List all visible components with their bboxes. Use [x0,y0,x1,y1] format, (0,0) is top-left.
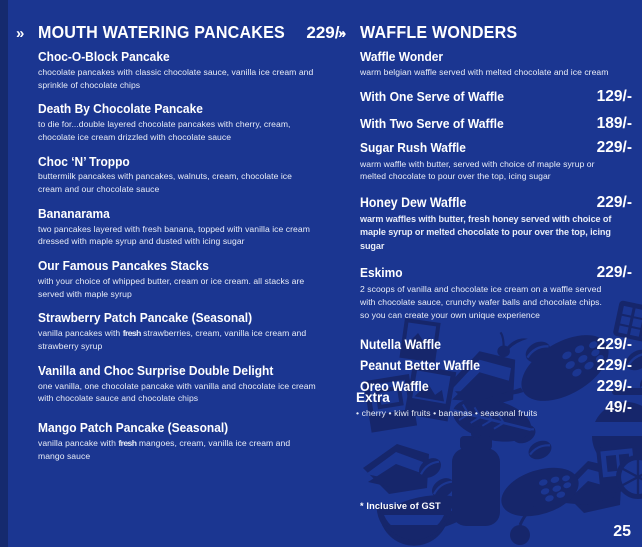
item-name: Honey Dew Waffle [360,195,466,211]
menu-item[interactable]: Sugar Rush Waffle 229/- warm waffle with… [360,139,632,183]
item-description-highlight: fresh [118,438,136,448]
cacao-pod-icon [495,459,585,526]
item-name: Peanut Better Waffle [360,358,480,374]
item-price: 189/- [597,115,632,133]
item-description: with your choice of whipped butter, crea… [38,275,318,300]
extra-label: Extra [356,390,537,406]
item-description: to die for...double layered chocolate pa… [38,118,318,143]
leaf-icon [384,490,472,535]
menu-item[interactable]: Eskimo 229/- 2 scoops of vanilla and cho… [360,264,632,321]
item-description: 2 scoops of vanilla and chocolate ice cr… [360,283,612,321]
section-header-waffles: » WAFFLE WONDERS [330,0,642,43]
menu-item[interactable]: Choc ‘N’ Troppo buttermilk pancakes with… [38,155,318,196]
item-name: Mango Patch Pancake (Seasonal) [38,421,228,436]
item-description: warm waffle with butter, served with cho… [360,158,612,183]
item-price: 229/- [597,357,632,375]
extra-price: 49/- [605,399,632,418]
menu-item[interactable]: Vanilla and Choc Surprise Double Delight… [38,364,318,405]
menu-item[interactable]: Nutella Waffle 229/- [360,336,632,354]
extra-text-group: Extra • cherry • kiwi fruits • bananas •… [356,390,537,418]
menu-item[interactable]: Mango Patch Pancake (Seasonal) vanilla p… [38,421,318,462]
item-name: Choc-O-Block Pancake [38,50,170,65]
item-description: vanilla pancake with fresh mangoes, crea… [38,437,318,462]
chevron-right-icon: » [338,26,360,41]
page-gutter [0,0,8,547]
menu-item[interactable]: Peanut Better Waffle 229/- [360,357,632,375]
item-name: Vanilla and Choc Surprise Double Delight [38,364,273,379]
extra-options-list: • cherry • kiwi fruits • bananas • seaso… [356,408,537,418]
item-name: Waffle Wonder [360,50,443,65]
item-description-pre: vanilla pancake with [38,438,118,448]
item-price: 229/- [597,194,632,212]
section-title: MOUTH WATERING PANCAKES [38,22,285,43]
item-name: With Two Serve of Waffle [360,116,504,131]
item-name: Choc ‘N’ Troppo [38,155,130,170]
french-press-icon [452,426,500,526]
menu-item[interactable]: Waffle Wonder warm belgian waffle served… [360,50,632,79]
coffee-beans-icon [509,421,554,463]
item-price: 229/- [597,336,632,354]
item-name: With One Serve of Waffle [360,89,504,104]
menu-item[interactable]: Strawberry Patch Pancake (Seasonal) vani… [38,311,318,352]
menu-item[interactable]: Death By Chocolate Pancake to die for...… [38,102,318,143]
photo-frames-icon [596,444,641,494]
gst-footnote: * Inclusive of GST [360,501,441,511]
item-description: buttermilk pancakes with pancakes, walnu… [38,170,318,195]
item-description: vanilla pancakes with fresh strawberries… [38,327,318,352]
menu-item[interactable]: Honey Dew Waffle 229/- warm waffles with… [360,194,632,253]
item-name: Strawberry Patch Pancake (Seasonal) [38,311,252,326]
item-name: Eskimo [360,266,403,281]
menu-item[interactable]: Bananarama two pancakes layered with fre… [38,207,318,248]
item-description-highlight: fresh [123,328,141,338]
item-description: warm waffles with butter, fresh honey se… [360,213,612,253]
cake-slice-icon [560,451,631,513]
section-pancakes: » MOUTH WATERING PANCAKES 229/- Choc-O-B… [8,0,330,462]
section-header-pancakes: » MOUTH WATERING PANCAKES 229/- [8,0,330,43]
cherry-icon [510,507,536,545]
citrus-slice-icon [616,455,642,499]
coffee-beans-icon [415,454,458,502]
menu-item[interactable]: Our Famous Pancakes Stacks with your cho… [38,259,318,300]
item-name: Bananarama [38,207,110,222]
section-waffles: » WAFFLE WONDERS Waffle Wonder warm belg… [330,0,642,396]
chevron-right-icon: » [16,26,38,41]
item-name: Nutella Waffle [360,337,441,353]
menu-item-list-pancakes: Choc-O-Block Pancake chocolate pancakes … [38,50,318,462]
cake-slice-icon [363,444,429,494]
menu-item-list-waffles: Waffle Wonder warm belgian waffle served… [360,50,632,396]
page-number: 25 [613,523,631,541]
bowl-icon [378,505,450,546]
item-name: Death By Chocolate Pancake [38,102,203,117]
menu-item[interactable]: With One Serve of Waffle 129/- [360,88,632,106]
item-name: Sugar Rush Waffle [360,141,466,156]
item-description: one vanilla, one chocolate pancake with … [38,380,318,405]
item-description: chocolate pancakes with classic chocolat… [38,66,318,91]
item-description: warm belgian waffle served with melted c… [360,66,612,79]
item-price: 129/- [597,88,632,106]
item-description: two pancakes layered with fresh banana, … [38,223,318,248]
section-title: WAFFLE WONDERS [360,22,619,43]
item-price: 229/- [597,139,632,157]
menu-item[interactable]: With Two Serve of Waffle 189/- [360,115,632,133]
item-price: 229/- [597,264,632,282]
menu-item[interactable]: Choc-O-Block Pancake chocolate pancakes … [38,50,318,91]
extra-addons-block[interactable]: Extra • cherry • kiwi fruits • bananas •… [356,390,632,418]
item-description-pre: vanilla pancakes with [38,328,123,338]
item-name: Our Famous Pancakes Stacks [38,259,209,274]
menu-page: » MOUTH WATERING PANCAKES 229/- Choc-O-B… [0,0,642,547]
